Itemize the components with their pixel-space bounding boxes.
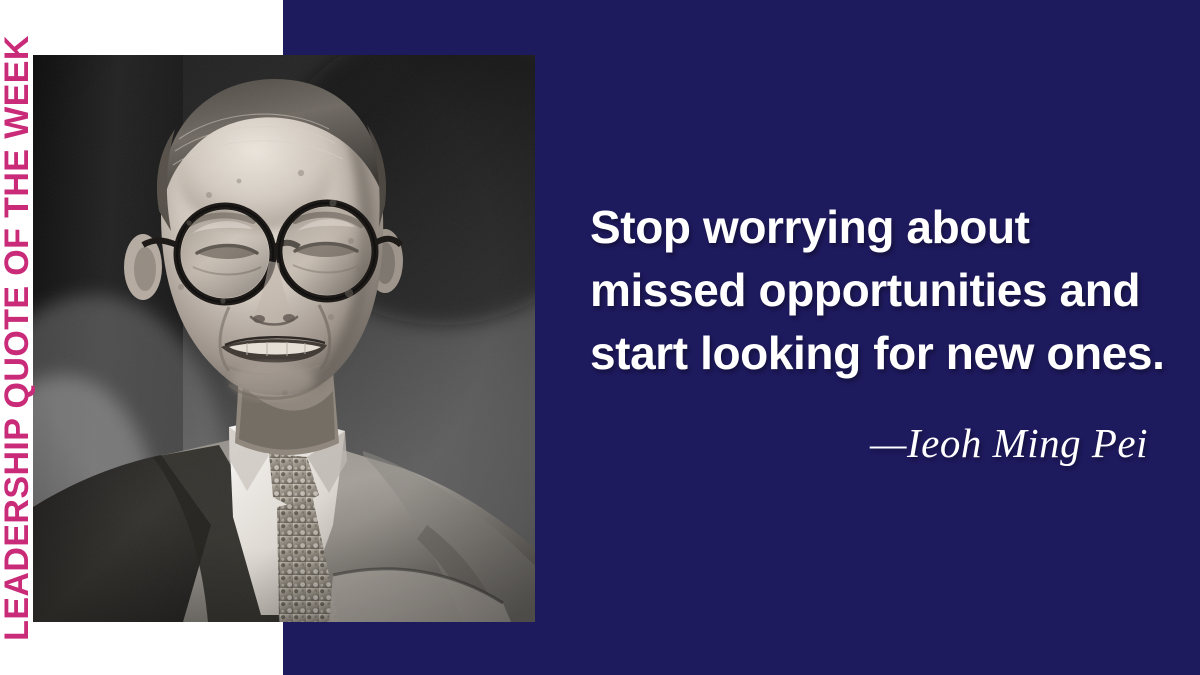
quote-attribution: —Ieoh Ming Pei (590, 418, 1148, 468)
quote-line-1: Stop worrying about (590, 196, 1150, 259)
side-banner: LEADERSHIP QUOTE OF THE WEEK (0, 0, 34, 675)
quote-line-3: start looking for new ones. (590, 322, 1150, 385)
quote-text: Stop worrying about missed opportunities… (590, 196, 1150, 385)
quote-card: LEADERSHIP QUOTE OF THE WEEK (0, 0, 1200, 675)
portrait-photo-image (33, 55, 535, 622)
quote-line-2: missed opportunities and (590, 259, 1150, 322)
portrait-photo (33, 55, 535, 622)
side-banner-label: LEADERSHIP QUOTE OF THE WEEK (0, 0, 34, 675)
